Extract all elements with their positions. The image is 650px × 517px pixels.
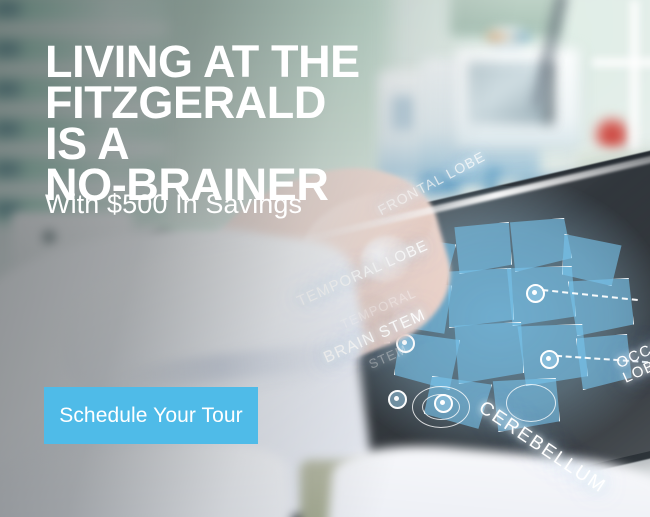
banner-content: LIVING AT THE FITZGERALD IS A NO-BRAINER… <box>0 0 650 517</box>
promo-banner: FRONTAL LOBE TEMPORAL LOBE TEMPORAL BRAI… <box>0 0 650 517</box>
banner-subheadline: With $500 In Savings <box>45 189 302 220</box>
banner-headline: LIVING AT THE FITZGERALD IS A NO-BRAINER <box>45 41 375 205</box>
headline-line-2: FITZGERALD IS A <box>45 82 375 164</box>
schedule-tour-button[interactable]: Schedule Your Tour <box>44 387 258 444</box>
headline-line-1: LIVING AT THE <box>45 41 375 82</box>
